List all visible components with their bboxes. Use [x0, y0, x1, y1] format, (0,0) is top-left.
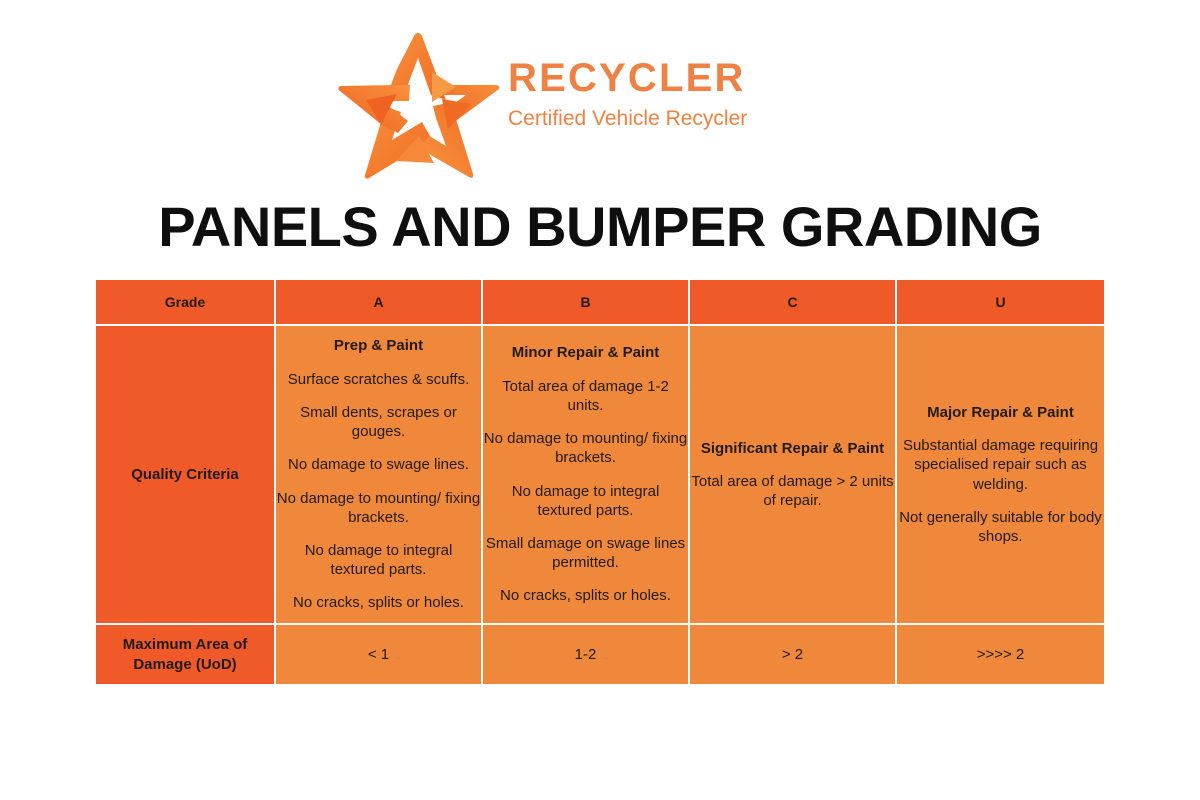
criteria-heading-a: Prep & Paint [276, 336, 481, 356]
logo-wordmark: RECYCLER [508, 58, 776, 98]
criteria-line: Total area of damage > 2 units of repair… [690, 472, 895, 510]
maxarea-cell-grade-a: < 1 [276, 625, 483, 684]
criteria-heading-u: Major Repair & Paint [897, 403, 1104, 423]
header-cell-grade-u: U [897, 280, 1104, 326]
criteria-line: Small damage on swage lines permitted. [483, 534, 688, 572]
criteria-cell-grade-b: Minor Repair & Paint Total area of damag… [483, 326, 690, 625]
criteria-line: No cracks, splits or holes. [483, 586, 688, 605]
criteria-heading-b: Minor Repair & Paint [483, 343, 688, 363]
panels-and-bumper-grading-table: Grade A B C U Quality Criteria Prep & Pa… [96, 280, 1104, 684]
page-title: PANELS AND BUMPER GRADING [0, 196, 1200, 258]
criteria-line: No damage to integral textured parts. [276, 541, 481, 579]
criteria-line: No cracks, splits or holes. [276, 593, 481, 612]
criteria-line: No damage to mounting/ fixing brackets. [276, 489, 481, 527]
criteria-line: Not generally suitable for body shops. [897, 508, 1104, 546]
recycling-star-logo-icon [336, 28, 501, 183]
criteria-cell-grade-c: Significant Repair & Paint Total area of… [690, 326, 897, 625]
criteria-line: Small dents, scrapes or gouges. [276, 403, 481, 441]
header-cell-grade-a: A [276, 280, 483, 326]
criteria-cell-grade-a: Prep & Paint Surface scratches & scuffs.… [276, 326, 483, 625]
row-label-maximum-area-of-damage: Maximum Area of Damage (UoD) [96, 625, 276, 684]
header-cell-grade-b: B [483, 280, 690, 326]
criteria-line: No damage to mounting/ fixing brackets. [483, 429, 688, 467]
maxarea-cell-grade-u: >>>> 2 [897, 625, 1104, 684]
criteria-cell-grade-u: Major Repair & Paint Substantial damage … [897, 326, 1104, 625]
criteria-line: Surface scratches & scuffs. [276, 370, 481, 389]
criteria-line: No damage to integral textured parts. [483, 482, 688, 520]
criteria-line: Substantial damage requiring specialised… [897, 436, 1104, 494]
table-header-row: Grade A B C U [96, 280, 1104, 326]
table-row-maximum-area-of-damage: Maximum Area of Damage (UoD) < 1 1-2 > 2… [96, 625, 1104, 684]
maxarea-cell-grade-c: > 2 [690, 625, 897, 684]
criteria-line: No damage to swage lines. [276, 455, 481, 474]
brand-logo: RECYCLER Certified Vehicle Recycler [336, 28, 776, 183]
logo-tagline: Certified Vehicle Recycler [508, 108, 776, 129]
header-cell-grade-c: C [690, 280, 897, 326]
logo-text-block: RECYCLER Certified Vehicle Recycler [508, 58, 776, 129]
header-cell-grade: Grade [96, 280, 276, 326]
criteria-heading-c: Significant Repair & Paint [690, 439, 895, 459]
table-row-quality-criteria: Quality Criteria Prep & Paint Surface sc… [96, 326, 1104, 625]
row-label-quality-criteria: Quality Criteria [96, 326, 276, 625]
criteria-line: Total area of damage 1-2 units. [483, 377, 688, 415]
maxarea-cell-grade-b: 1-2 [483, 625, 690, 684]
